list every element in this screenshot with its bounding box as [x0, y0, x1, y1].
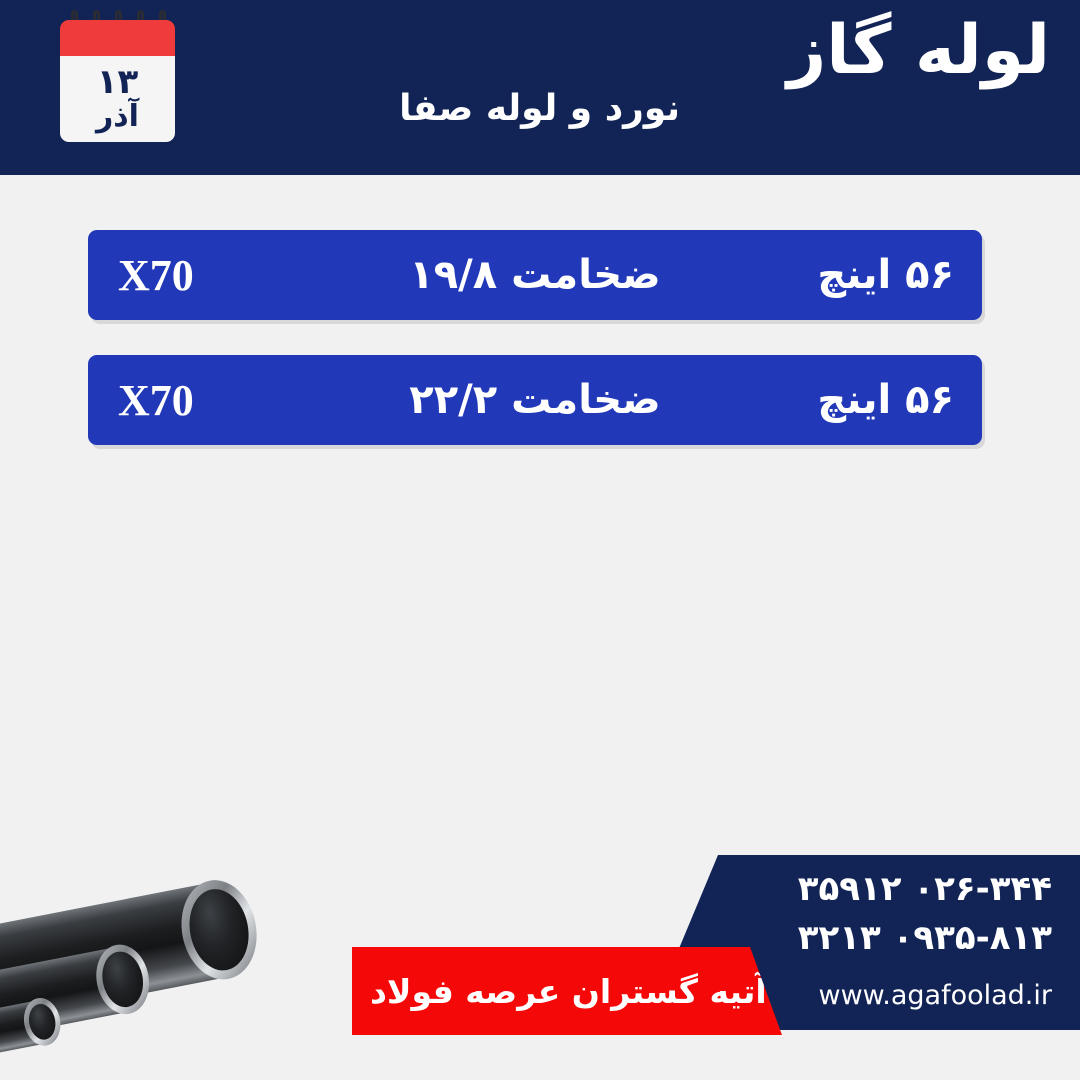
header-bar: ۱۳ آذر لوله گاز نورد و لوله صفا	[0, 0, 1080, 175]
calendar-top-band	[60, 20, 175, 58]
page-subtitle: نورد و لوله صفا	[399, 88, 680, 129]
steel-pipes-image	[0, 880, 320, 1080]
poster-canvas: ۱۳ آذر لوله گاز نورد و لوله صفا X70 ضخام…	[0, 0, 1080, 1080]
calendar-icon: ۱۳ آذر	[55, 10, 180, 150]
calendar-body: ۱۳ آذر	[60, 56, 175, 142]
page-title: لوله گاز	[787, 8, 1050, 93]
table-row[interactable]: X70 ضخامت ۱۹/۸ ۵۶ اینچ	[88, 230, 982, 320]
company-name: آتیه گستران عرصه فولاد	[370, 972, 787, 1011]
calendar-month: آذر	[96, 101, 139, 133]
table-row[interactable]: X70 ضخامت ۲۲/۲ ۵۶ اینچ	[88, 355, 982, 445]
product-size: ۵۶ اینچ	[817, 355, 954, 445]
phone-number-landline[interactable]: ۰۲۶-۳۴۴ ۳۵۹۱۲	[632, 865, 1052, 914]
company-banner: آتیه گستران عرصه فولاد	[352, 947, 782, 1035]
calendar-day: ۱۳	[97, 65, 139, 99]
pipe-small	[0, 996, 68, 1064]
product-list: X70 ضخامت ۱۹/۸ ۵۶ اینچ X70 ضخامت ۲۲/۲ ۵۶…	[88, 230, 982, 480]
product-size: ۵۶ اینچ	[817, 230, 954, 320]
